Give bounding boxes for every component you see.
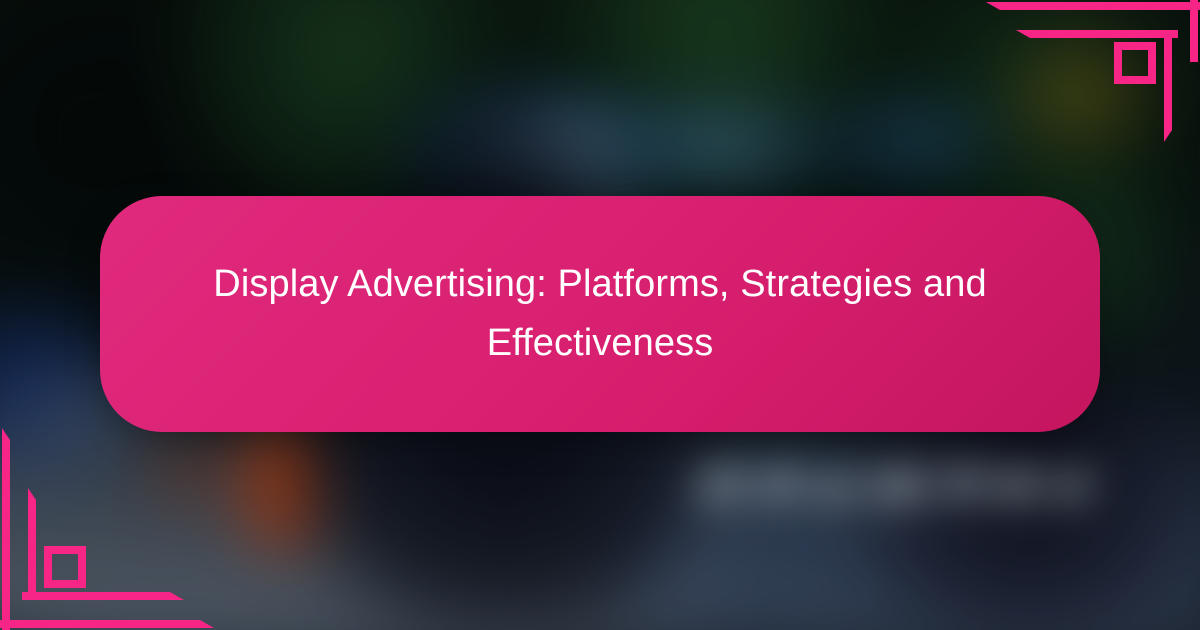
social-share-card: Display Advertising: Platforms, Strategi… <box>0 0 1200 630</box>
corner-line-vertical-inner <box>28 500 36 582</box>
corner-line-vertical-inner <box>1164 48 1172 130</box>
corner-square-outline <box>1114 42 1156 84</box>
corner-line-vertical-outer <box>1190 0 1198 62</box>
corner-line-horizontal-outer <box>1000 2 1200 10</box>
page-title: Display Advertising: Platforms, Strategi… <box>160 255 1040 373</box>
title-card: Display Advertising: Platforms, Strategi… <box>100 196 1100 432</box>
corner-square-outline <box>44 546 86 588</box>
corner-line-horizontal-inner <box>1030 30 1178 38</box>
corner-line-horizontal-inner <box>22 592 170 600</box>
corner-line-vertical-outer <box>2 440 10 630</box>
corner-line-horizontal-outer <box>0 620 200 628</box>
